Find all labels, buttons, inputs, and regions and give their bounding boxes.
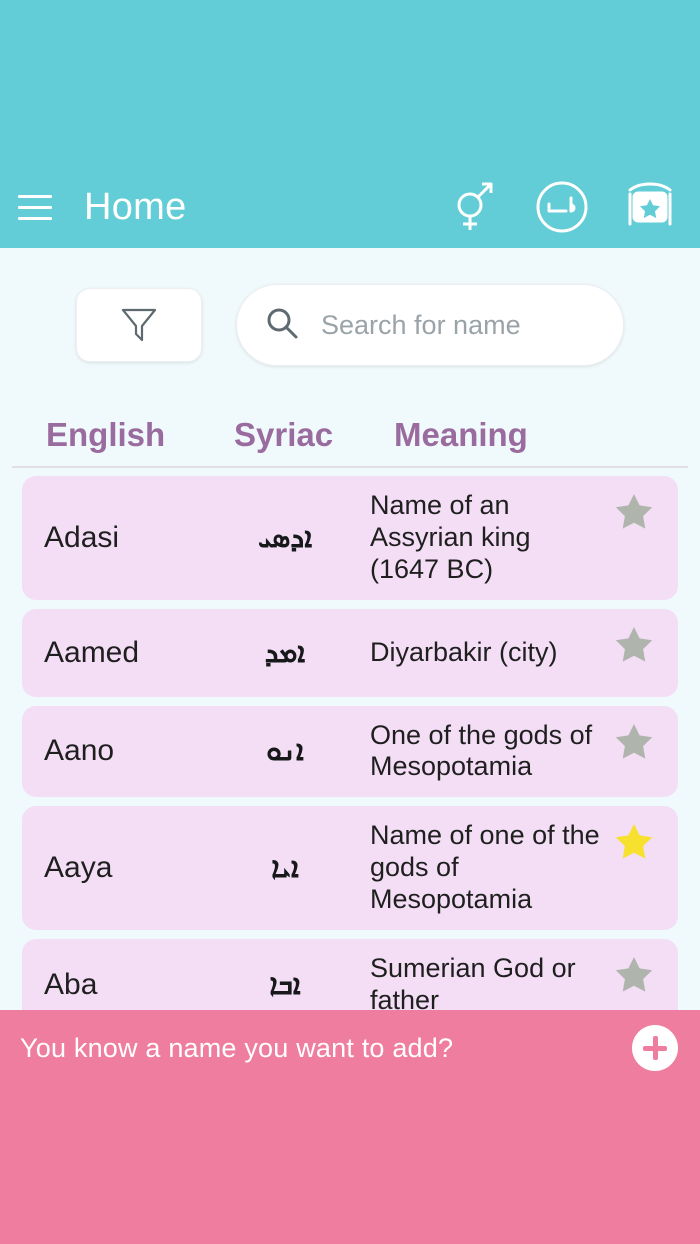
cell-syriac: ܐܡܕ [210,636,370,670]
app-root: Home [0,0,700,1244]
search-magnifier-icon [265,306,299,345]
cell-syriac: ܐܢܘ [210,734,370,768]
table-header-row: English Syriac Meaning [0,404,700,466]
cell-syriac: ܐܝܐ [210,851,370,885]
favorite-star-icon[interactable] [608,492,660,530]
cell-meaning: Name of one of the gods of Mesopotamia [370,820,608,916]
column-header-english[interactable]: English [46,416,234,454]
table-row[interactable]: AanoܐܢܘOne of the gods of Mesopotamia [22,706,678,798]
table-row[interactable]: AdasiܐܕܣܝName of an Assyrian king (1647 … [22,476,678,600]
search-input[interactable] [321,285,601,365]
cell-english: Aano [44,734,210,768]
add-name-button[interactable] [632,1025,678,1071]
name-list[interactable]: AdasiܐܕܣܝName of an Assyrian king (1647 … [0,476,700,1010]
cell-meaning: Name of an Assyrian king (1647 BC) [370,490,608,586]
header-divider [12,466,688,468]
search-row [0,286,700,364]
favorite-star-icon[interactable] [608,625,660,663]
table-row[interactable]: AamedܐܡܕDiyarbakir (city) [22,609,678,697]
cell-syriac: ܐܒܐ [210,968,370,1002]
filter-button[interactable] [76,288,202,362]
syriac-alphabet-icon[interactable] [534,179,590,235]
table-row[interactable]: AayaܐܝܐName of one of the gods of Mesopo… [22,806,678,930]
app-bar-actions [446,179,678,235]
hamburger-menu-icon[interactable] [18,190,54,224]
search-box[interactable] [236,284,624,366]
add-name-bar: You know a name you want to add? [0,1010,700,1244]
favorite-star-icon[interactable] [608,955,660,993]
cell-english: Aamed [44,636,210,670]
favorites-star-icon[interactable] [622,179,678,235]
cell-english: Aaya [44,851,210,885]
cell-english: Aba [44,968,210,1002]
status-bar-area [0,0,700,166]
cell-english: Adasi [44,521,210,555]
cell-syriac: ܐܕܣܝ [210,521,370,555]
app-bar: Home [0,166,700,248]
favorite-star-icon-active[interactable] [608,822,660,860]
filter-funnel-icon [120,303,158,348]
cell-meaning: Diyarbakir (city) [370,637,608,669]
favorite-star-icon[interactable] [608,722,660,760]
gender-symbol-icon[interactable] [446,179,502,235]
cell-meaning: Sumerian God or father [370,953,608,1010]
cell-meaning: One of the gods of Mesopotamia [370,720,608,784]
column-header-syriac[interactable]: Syriac [234,416,394,454]
table-row[interactable]: AbaܐܒܐSumerian God or father [22,939,678,1010]
column-header-meaning[interactable]: Meaning [394,416,678,454]
add-name-prompt: You know a name you want to add? [20,1033,453,1064]
page-title: Home [84,186,187,229]
